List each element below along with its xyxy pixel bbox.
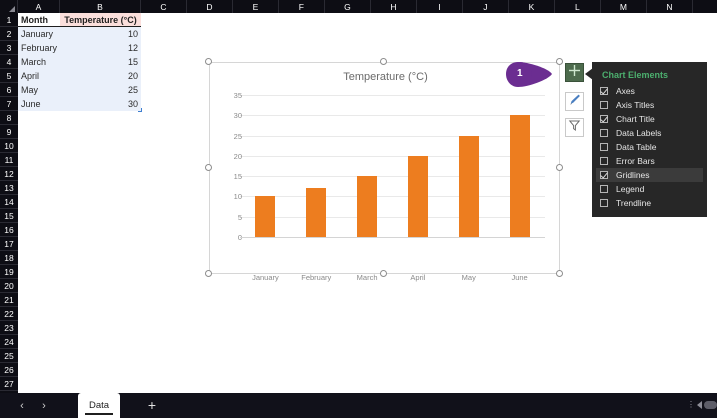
row-header-25[interactable]: 25 <box>0 349 18 363</box>
chart-y-tick-label: 20 <box>220 152 242 161</box>
chart-element-label: Legend <box>616 184 644 194</box>
cell-A6[interactable]: May <box>18 83 60 97</box>
chart-y-tick-label: 25 <box>220 132 242 141</box>
chart-object[interactable]: Temperature (°C) 05101520253035JanuaryFe… <box>209 62 560 274</box>
chart-gridline <box>240 176 545 177</box>
cell-B4[interactable]: 15 <box>60 55 141 69</box>
chart-styles-button[interactable] <box>565 92 584 111</box>
row-header-6[interactable]: 6 <box>0 83 18 97</box>
row-header-7[interactable]: 7 <box>0 97 18 111</box>
row-header-16[interactable]: 16 <box>0 223 18 237</box>
chart-bar[interactable] <box>306 188 326 237</box>
scroll-left-arrow-icon[interactable] <box>697 401 702 409</box>
chart-element-item-axis-titles[interactable]: Axis Titles <box>596 98 703 112</box>
chart-element-label: Data Labels <box>616 128 661 138</box>
column-header-c[interactable]: C <box>141 0 187 13</box>
column-header-e[interactable]: E <box>233 0 279 13</box>
column-header-g[interactable]: G <box>325 0 371 13</box>
chart-element-label: Chart Title <box>616 114 655 124</box>
chart-element-item-error-bars[interactable]: Error Bars <box>596 154 703 168</box>
row-header-bar: 1234567891011121314151617181920212223242… <box>0 13 18 393</box>
horizontal-scrollbar-thumb[interactable] <box>704 401 717 409</box>
row-header-2[interactable]: 2 <box>0 27 18 41</box>
checkbox-icon[interactable] <box>600 87 608 95</box>
chart-y-tick-label: 30 <box>220 111 242 120</box>
chart-handle-bottom-left[interactable] <box>205 270 212 277</box>
row-header-20[interactable]: 20 <box>0 279 18 293</box>
add-sheet-button[interactable]: + <box>144 397 160 413</box>
cell-A3[interactable]: February <box>18 41 60 55</box>
row-header-14[interactable]: 14 <box>0 195 18 209</box>
column-header-d[interactable]: D <box>187 0 233 13</box>
cell-B3[interactable]: 12 <box>60 41 141 55</box>
cell-B6[interactable]: 25 <box>60 83 141 97</box>
chart-bar[interactable] <box>408 156 428 237</box>
cell-B7[interactable]: 30 <box>60 97 141 111</box>
row-header-13[interactable]: 13 <box>0 181 18 195</box>
sheet-tab-active-underline <box>85 413 113 415</box>
chart-gridline <box>240 196 545 197</box>
chart-bar[interactable] <box>255 196 275 237</box>
next-sheet-arrow-icon[interactable]: › <box>36 398 52 414</box>
prev-sheet-arrow-icon[interactable]: ‹ <box>14 398 30 414</box>
row-header-26[interactable]: 26 <box>0 363 18 377</box>
chart-x-tick-label: January <box>242 273 288 282</box>
checkbox-icon[interactable] <box>600 199 608 207</box>
chart-handle-top-right[interactable] <box>556 58 563 65</box>
chart-element-item-axes[interactable]: Axes <box>596 84 703 98</box>
chart-x-axis-line <box>240 237 545 238</box>
chart-gridline <box>240 115 545 116</box>
step-marker-1: 1 <box>504 60 554 90</box>
row-header-22[interactable]: 22 <box>0 307 18 321</box>
row-header-10[interactable]: 10 <box>0 139 18 153</box>
checkbox-icon[interactable] <box>600 171 608 179</box>
row-header-11[interactable]: 11 <box>0 153 18 167</box>
chart-gridline <box>240 156 545 157</box>
checkbox-icon[interactable] <box>600 157 608 165</box>
row-header-23[interactable]: 23 <box>0 321 18 335</box>
checkbox-icon[interactable] <box>600 115 608 123</box>
cell-A5[interactable]: April <box>18 69 60 83</box>
row-header-17[interactable]: 17 <box>0 237 18 251</box>
chart-element-item-data-labels[interactable]: Data Labels <box>596 126 703 140</box>
chart-x-tick-label: June <box>497 273 543 282</box>
chart-x-tick-label: April <box>395 273 441 282</box>
chart-handle-mid-right[interactable] <box>556 164 563 171</box>
chart-elements-panel[interactable]: Chart Elements AxesAxis TitlesChart Titl… <box>592 62 707 217</box>
chart-handle-mid-left[interactable] <box>205 164 212 171</box>
row-header-1[interactable]: 1 <box>0 13 18 27</box>
row-header-3[interactable]: 3 <box>0 41 18 55</box>
chart-element-item-gridlines[interactable]: Gridlines <box>596 168 703 182</box>
row-header-4[interactable]: 4 <box>0 55 18 69</box>
scroll-dots-icon: ⋮ <box>687 400 696 409</box>
sheet-tab-bar: ‹ › Data + ⋮ <box>0 393 717 418</box>
column-header-j[interactable]: J <box>463 0 509 13</box>
chart-handle-top-left[interactable] <box>205 58 212 65</box>
cell-B2[interactable]: 10 <box>60 27 141 41</box>
chart-y-tick-label: 0 <box>220 233 242 242</box>
chart-elements-panel-title: Chart Elements <box>602 70 668 80</box>
chart-bar[interactable] <box>357 176 377 237</box>
column-header-a[interactable]: A <box>18 0 60 13</box>
row-header-27[interactable]: 27 <box>0 377 18 391</box>
cell-B1[interactable]: Temperature (°C) <box>60 13 141 27</box>
chart-elements-button[interactable] <box>565 63 584 82</box>
chart-y-tick-label: 10 <box>220 192 242 201</box>
row-header-12[interactable]: 12 <box>0 167 18 181</box>
column-header-m[interactable]: M <box>601 0 647 13</box>
row-header-8[interactable]: 8 <box>0 111 18 125</box>
chart-element-label: Gridlines <box>616 170 650 180</box>
select-all-corner[interactable] <box>0 0 18 13</box>
column-header-l[interactable]: L <box>555 0 601 13</box>
row-header-19[interactable]: 19 <box>0 265 18 279</box>
chart-element-label: Axis Titles <box>616 100 654 110</box>
chart-plot-area: 05101520253035JanuaryFebruaryMarchAprilM… <box>240 95 545 237</box>
column-header-bar: ABCDEFGHIJKLMN <box>0 0 717 13</box>
chart-gridline <box>240 136 545 137</box>
chart-handle-bottom-right[interactable] <box>556 270 563 277</box>
column-header-f[interactable]: F <box>279 0 325 13</box>
chart-y-tick-label: 35 <box>220 91 242 100</box>
funnel-icon <box>568 119 581 137</box>
column-header-k[interactable]: K <box>509 0 555 13</box>
cell-A1[interactable]: Month <box>18 13 60 27</box>
checkbox-icon[interactable] <box>600 143 608 151</box>
checkbox-icon[interactable] <box>600 185 608 193</box>
excel-window: ABCDEFGHIJKLMN 1234567891011121314151617… <box>0 0 717 418</box>
chart-element-item-data-table[interactable]: Data Table <box>596 140 703 154</box>
plus-icon <box>568 64 581 82</box>
chart-element-item-legend[interactable]: Legend <box>596 182 703 196</box>
chart-gridline <box>240 95 545 96</box>
brush-icon <box>568 93 581 111</box>
chart-element-item-chart-title[interactable]: Chart Title <box>596 112 703 126</box>
chart-gridline <box>240 217 545 218</box>
chart-element-label: Error Bars <box>616 156 655 166</box>
row-header-21[interactable]: 21 <box>0 293 18 307</box>
cell-B5[interactable]: 20 <box>60 69 141 83</box>
row-header-24[interactable]: 24 <box>0 335 18 349</box>
cell-A4[interactable]: March <box>18 55 60 69</box>
chart-handle-top-center[interactable] <box>380 58 387 65</box>
chart-y-tick-label: 15 <box>220 172 242 181</box>
chart-element-label: Axes <box>616 86 635 96</box>
chart-x-tick-label: February <box>293 273 339 282</box>
row-header-15[interactable]: 15 <box>0 209 18 223</box>
chart-element-label: Trendline <box>616 198 651 208</box>
step-marker-label: 1 <box>517 68 523 79</box>
chart-handle-bottom-center[interactable] <box>380 270 387 277</box>
column-header-h[interactable]: H <box>371 0 417 13</box>
chart-x-tick-label: May <box>446 273 492 282</box>
row-header-9[interactable]: 9 <box>0 125 18 139</box>
row-header-18[interactable]: 18 <box>0 251 18 265</box>
chart-element-label: Data Table <box>616 142 656 152</box>
checkbox-icon[interactable] <box>600 101 608 109</box>
chart-bar[interactable] <box>459 136 479 237</box>
cell-A2[interactable]: January <box>18 27 60 41</box>
checkbox-icon[interactable] <box>600 129 608 137</box>
row-header-5[interactable]: 5 <box>0 69 18 83</box>
chart-y-tick-label: 5 <box>220 213 242 222</box>
chart-filters-button[interactable] <box>565 118 584 137</box>
chart-bar[interactable] <box>510 115 530 237</box>
chart-element-item-trendline[interactable]: Trendline <box>596 196 703 210</box>
column-header-i[interactable]: I <box>417 0 463 13</box>
cell-A7[interactable]: June <box>18 97 60 111</box>
column-header-b[interactable]: B <box>60 0 141 13</box>
column-header-n[interactable]: N <box>647 0 693 13</box>
